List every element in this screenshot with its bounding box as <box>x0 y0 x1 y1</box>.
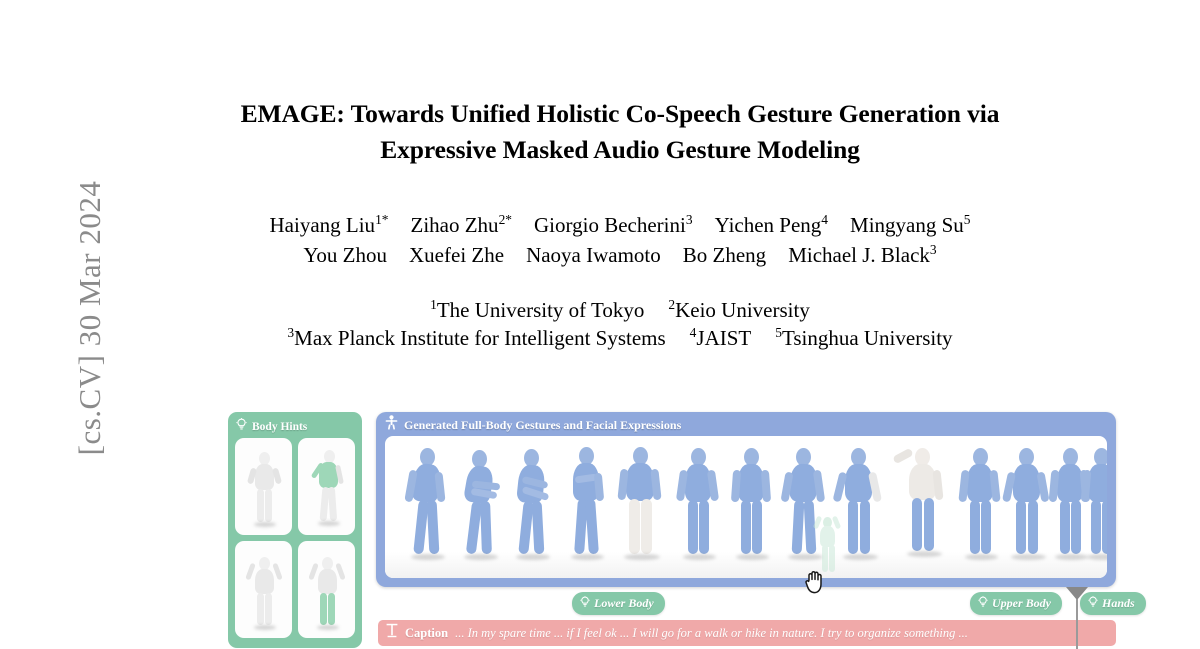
caption-text: ... In my spare time ... if I feel ok ..… <box>455 626 968 641</box>
affiliation: 5Tsinghua University <box>775 326 952 350</box>
affiliation-name: Max Planck Institute for Intelligent Sys… <box>294 326 666 350</box>
person-icon <box>385 415 398 435</box>
caption-tag: Caption <box>405 626 448 641</box>
gesture-sequence-stage[interactable] <box>385 436 1107 578</box>
gesture-figure[interactable] <box>615 447 671 566</box>
author-row-2: You ZhouXuefei ZheNaoya IwamotoBo ZhengM… <box>120 240 1120 270</box>
affiliation: 1The University of Tokyo <box>430 298 644 322</box>
affiliation-name: JAIST <box>696 326 751 350</box>
affiliation-marker: 1 <box>430 297 437 312</box>
author-name: Giorgio Becherini <box>534 213 686 237</box>
gesture-figure[interactable] <box>403 448 457 566</box>
upper-body-pill-label: Upper Body <box>992 596 1051 611</box>
author-name: Mingyang Su <box>850 213 964 237</box>
author-affil-marker: 5 <box>964 212 971 227</box>
body-hints-title: Body Hints <box>252 421 307 433</box>
affiliation-name: The University of Tokyo <box>437 298 645 322</box>
gesture-figure[interactable] <box>507 449 563 566</box>
generated-gestures-header: Generated Full-Body Gestures and Facial … <box>385 416 681 434</box>
affiliation: 2Keio University <box>668 298 809 322</box>
affiliation-list: 1The University of Tokyo2Keio University… <box>120 296 1120 352</box>
page-title: EMAGE: Towards Unified Holistic Co-Speec… <box>120 96 1120 168</box>
affiliation-name: Tsinghua University <box>782 326 953 350</box>
lower-body-pill[interactable]: Lower Body <box>572 592 665 615</box>
author-name: Bo Zheng <box>683 243 766 267</box>
author-list: Haiyang Liu1*Zihao Zhu2*Giorgio Becherin… <box>120 210 1120 270</box>
arxiv-stamp: [cs.CV] 30 Mar 2024 <box>0 0 90 648</box>
author: Xuefei Zhe <box>409 243 504 267</box>
page-title-line-1: EMAGE: Towards Unified Holistic Co-Speec… <box>120 96 1120 132</box>
author-name: Xuefei Zhe <box>409 243 504 267</box>
author: Zihao Zhu2* <box>411 213 513 237</box>
body-hint-overlay-figure <box>813 514 843 576</box>
body-part-pill-row: Lower Body Upper Body <box>376 592 1116 616</box>
author: Yichen Peng4 <box>715 213 828 237</box>
lightbulb-icon <box>978 595 988 613</box>
generated-gestures-panel: Generated Full-Body Gestures and Facial … <box>376 412 1116 587</box>
text-tool-icon <box>386 623 398 643</box>
body-hints-panel: Body Hints <box>228 412 362 648</box>
lower-body-pill-label: Lower Body <box>594 596 654 611</box>
author-affil-marker: 3 <box>686 212 693 227</box>
hands-pill-label: Hands <box>1102 596 1135 611</box>
author-affil-marker: 4 <box>821 212 828 227</box>
author: Bo Zheng <box>683 243 766 267</box>
author-name: Naoya Iwamoto <box>526 243 661 267</box>
playhead-line <box>1076 599 1078 649</box>
author: Haiyang Liu1* <box>270 213 389 237</box>
body-hint-thumbnail[interactable] <box>235 438 292 535</box>
teaser-figure: Body Hints <box>228 404 1128 648</box>
author: Naoya Iwamoto <box>526 243 661 267</box>
lightbulb-icon <box>236 418 247 436</box>
author: You Zhou <box>303 243 387 267</box>
lightbulb-icon <box>580 595 590 613</box>
gesture-figure[interactable] <box>891 444 953 566</box>
gesture-figure[interactable] <box>673 448 727 566</box>
body-hints-thumbnail-grid <box>235 438 355 638</box>
affiliation-row-2: 3Max Planck Institute for Intelligent Sy… <box>120 324 1120 352</box>
author-name: You Zhou <box>303 243 387 267</box>
gesture-figure[interactable] <box>561 447 615 566</box>
generated-gestures-title: Generated Full-Body Gestures and Facial … <box>404 418 681 433</box>
author-name: Michael J. Black <box>788 243 930 267</box>
affiliation: 3Max Planck Institute for Intelligent Sy… <box>287 326 665 350</box>
affiliation: 4JAIST <box>690 326 752 350</box>
page-title-line-2: Expressive Masked Audio Gesture Modeling <box>120 132 1120 168</box>
affiliation-row-1: 1The University of Tokyo2Keio University <box>120 296 1120 324</box>
gesture-figure[interactable] <box>726 448 780 566</box>
author-row-1: Haiyang Liu1*Zihao Zhu2*Giorgio Becherin… <box>120 210 1120 240</box>
body-hint-thumbnail[interactable] <box>298 541 355 638</box>
author: Michael J. Black3 <box>788 243 936 267</box>
paper-content: EMAGE: Towards Unified Holistic Co-Speec… <box>90 0 1200 648</box>
caption-bar[interactable]: Caption ... In my spare time ... if I fe… <box>378 620 1116 646</box>
author: Giorgio Becherini3 <box>534 213 693 237</box>
author-affil-marker: 2* <box>499 212 512 227</box>
author: Mingyang Su5 <box>850 213 970 237</box>
body-hint-thumbnail[interactable] <box>298 438 355 535</box>
gesture-figure[interactable] <box>1081 448 1107 566</box>
hand-cursor-icon <box>804 570 826 596</box>
affiliation-marker: 5 <box>775 325 782 340</box>
upper-body-pill[interactable]: Upper Body <box>970 592 1062 615</box>
lightbulb-icon <box>1088 595 1098 613</box>
playhead-marker-icon[interactable] <box>1066 587 1088 649</box>
author-affil-marker: 3 <box>930 242 937 257</box>
affiliation-name: Keio University <box>675 298 810 322</box>
body-hint-thumbnail[interactable] <box>235 541 292 638</box>
body-hints-header: Body Hints <box>236 418 307 435</box>
author-affil-marker: 1* <box>375 212 388 227</box>
author-name: Haiyang Liu <box>270 213 376 237</box>
hands-pill[interactable]: Hands <box>1080 592 1146 615</box>
author-name: Yichen Peng <box>715 213 822 237</box>
gesture-figure[interactable] <box>455 450 511 566</box>
author-name: Zihao Zhu <box>411 213 499 237</box>
